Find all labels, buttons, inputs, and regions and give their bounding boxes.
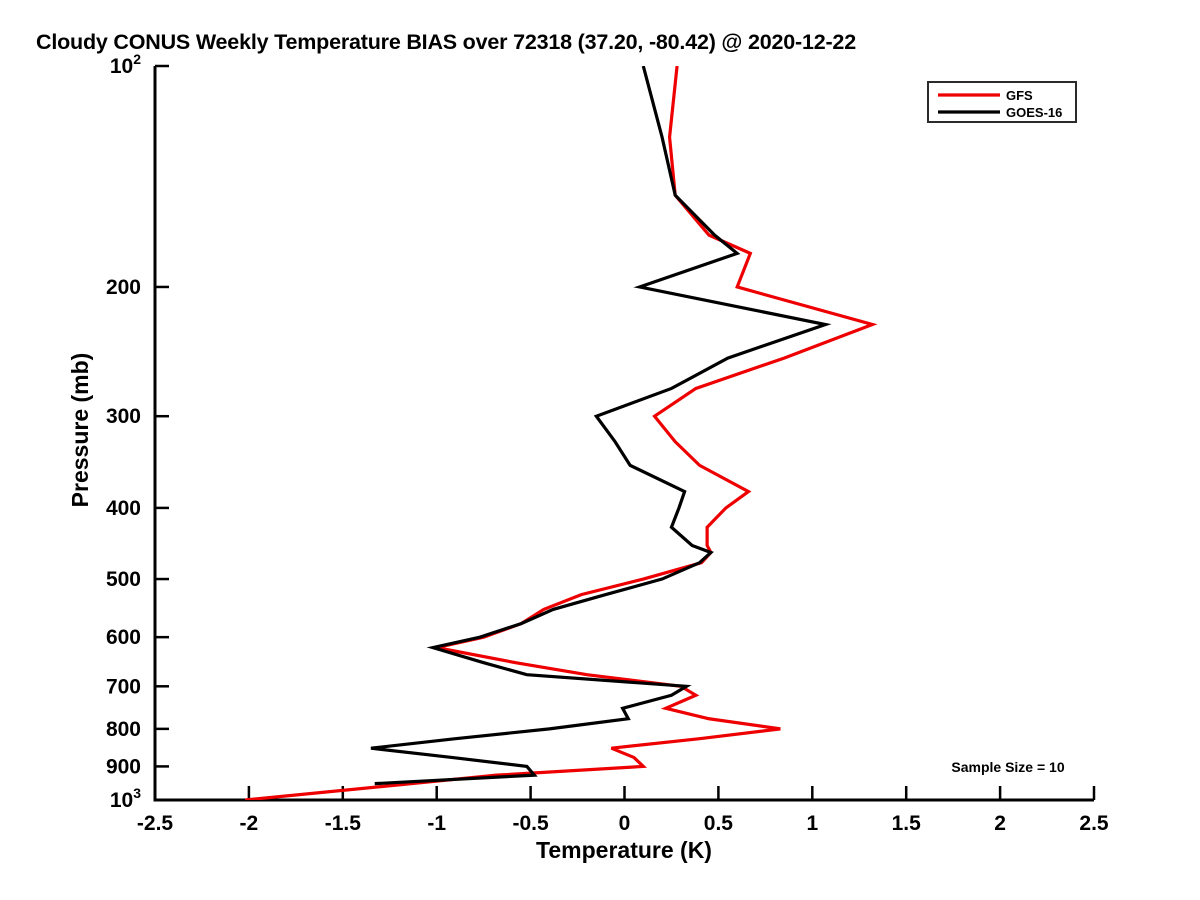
x-tick-label: 0.5 xyxy=(704,812,734,835)
x-tick-label: 1.5 xyxy=(892,812,922,835)
y-tick-label: 600 xyxy=(106,626,141,649)
y-axis-title: Pressure (mb) xyxy=(67,353,93,508)
legend-label-gfs: GFS xyxy=(1006,88,1033,103)
data-series-group xyxy=(245,66,872,800)
x-tick-label: -1.5 xyxy=(325,812,362,835)
x-axis-title: Temperature (K) xyxy=(536,837,712,863)
y-tick-label: 103 xyxy=(110,785,141,812)
y-tick-label: 400 xyxy=(106,497,141,520)
x-tick-label: 0 xyxy=(619,812,631,835)
y-tick-label: 800 xyxy=(106,718,141,741)
chart-page: Cloudy CONUS Weekly Temperature BIAS ove… xyxy=(0,0,1200,900)
legend-label-goes16: GOES-16 xyxy=(1006,105,1062,120)
x-tick-label: 1 xyxy=(806,812,818,835)
x-tick-label: -2 xyxy=(240,812,259,835)
y-tick-label: 300 xyxy=(106,405,141,428)
axis-frame xyxy=(155,66,1094,800)
legend: GFS GOES-16 xyxy=(928,82,1076,122)
y-axis-ticks: 102200300400500600700800900103 xyxy=(106,51,169,812)
y-tick-label: 200 xyxy=(106,276,141,299)
x-tick-label: -2.5 xyxy=(137,812,174,835)
x-axis-ticks: -2.5-2-1.5-1-0.500.511.522.5 xyxy=(137,786,1109,835)
profile-chart: 102200300400500600700800900103 -2.5-2-1.… xyxy=(0,0,1200,900)
y-tick-label: 500 xyxy=(106,568,141,591)
x-tick-label: -0.5 xyxy=(513,812,550,835)
x-tick-label: 2.5 xyxy=(1079,812,1109,835)
y-tick-label: 102 xyxy=(110,51,141,78)
sample-size-annotation: Sample Size = 10 xyxy=(951,759,1064,775)
x-tick-label: -1 xyxy=(427,812,446,835)
series-line-gfs xyxy=(245,66,872,800)
x-tick-label: 2 xyxy=(994,812,1006,835)
y-tick-label: 900 xyxy=(106,755,141,778)
y-tick-label: 700 xyxy=(106,675,141,698)
